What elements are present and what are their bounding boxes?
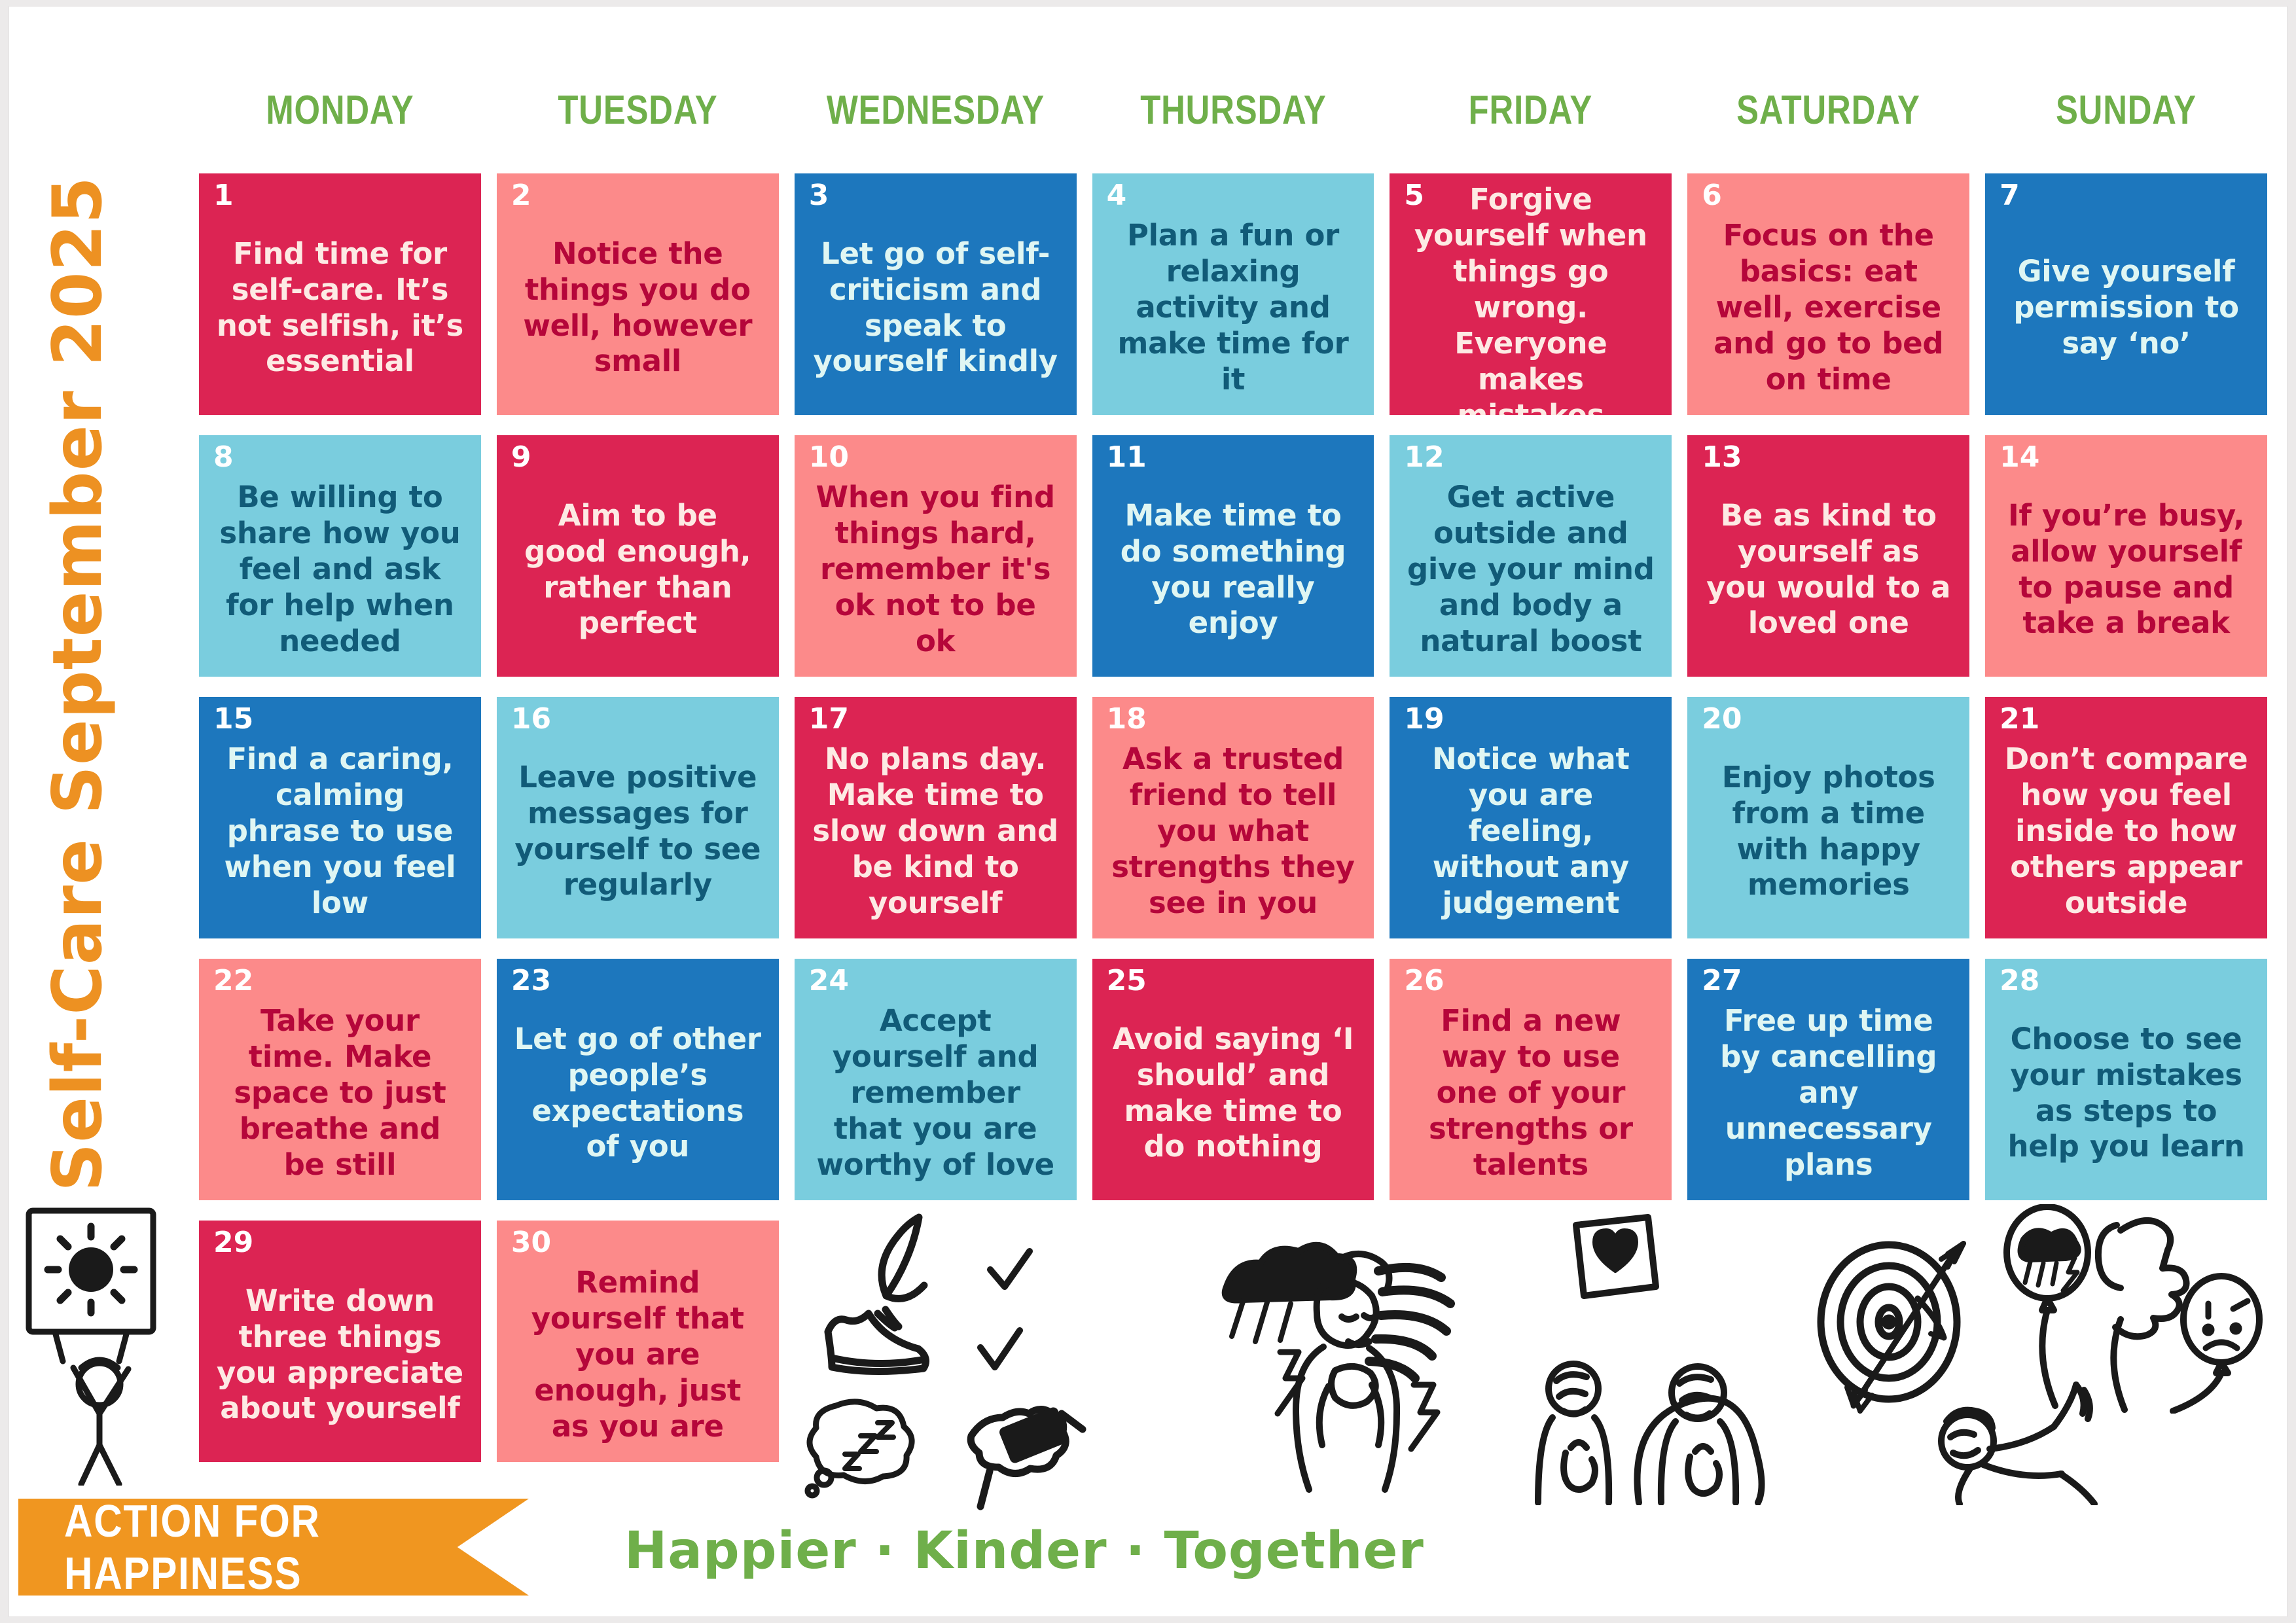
weekday-header-saturday: SATURDAY (1713, 79, 1944, 141)
day-number: 29 (213, 1227, 253, 1258)
calendar-cell-3[interactable]: 3Let go of self-criticism and speak to y… (795, 173, 1077, 415)
day-number: 28 (2000, 965, 2039, 997)
day-number: 2 (511, 180, 531, 211)
day-number: 10 (809, 442, 849, 473)
calendar-cell-29[interactable]: 29Write down three things you appreciate… (199, 1221, 481, 1462)
day-message: Accept yourself and remember that you ar… (812, 1003, 1060, 1183)
footer: ACTION FOR HAPPINESS Happier · Kinder · … (9, 1499, 2287, 1597)
weekday-header-thursday: THURSDAY (1117, 79, 1348, 141)
calendar-cell-20[interactable]: 20Enjoy photos from a time with happy me… (1687, 697, 1969, 938)
weekday-header-friday: FRIDAY (1415, 79, 1646, 141)
day-message: Free up time by cancelling any unnecessa… (1704, 1003, 1952, 1183)
day-number: 1 (213, 180, 234, 211)
day-number: 3 (809, 180, 829, 211)
day-message: Choose to see your mistakes as steps to … (2002, 1022, 2250, 1166)
day-number: 30 (511, 1227, 551, 1258)
calendar-cell-28[interactable]: 28Choose to see your mistakes as steps t… (1985, 959, 2267, 1200)
day-message: Remind yourself that you are enough, jus… (514, 1265, 762, 1444)
day-message: Take your time. Make space to just breat… (216, 1003, 464, 1183)
day-message: Find a caring, calming phrase to use whe… (216, 741, 464, 921)
day-number: 13 (1702, 442, 1742, 473)
day-number: 21 (2000, 704, 2039, 735)
calendar-cell-13[interactable]: 13Be as kind to yourself as you would to… (1687, 435, 1969, 677)
calendar-cell-23[interactable]: 23Let go of other people’s expectations … (497, 959, 779, 1200)
day-number: 26 (1404, 965, 1444, 997)
calendar-cell-30[interactable]: 30Remind yourself that you are enough, j… (497, 1221, 779, 1462)
weekday-header-tuesday: TUESDAY (522, 79, 753, 141)
calendar-cell-11[interactable]: 11Make time to do something you really e… (1092, 435, 1374, 677)
page-title: Self-Care September 2025 (39, 176, 117, 1192)
day-number: 18 (1107, 704, 1147, 735)
day-message: Find time for self-care. It’s not selfis… (216, 236, 464, 380)
calendar-cell-15[interactable]: 15Find a caring, calming phrase to use w… (199, 697, 481, 938)
day-number: 14 (2000, 442, 2039, 473)
day-message: Leave positive messages for yourself to … (514, 760, 762, 904)
day-message: Aim to be good enough, rather than perfe… (514, 498, 762, 642)
weekday-header-monday: MONDAY (224, 79, 456, 141)
weekday-header-row: MONDAY TUESDAY WEDNESDAY THURSDAY FRIDAY… (199, 79, 2267, 141)
weekday-header-wednesday: WEDNESDAY (819, 79, 1050, 141)
calendar-grid: 1Find time for self-care. It’s not selfi… (199, 173, 2267, 1476)
day-message: Don’t compare how you feel inside to how… (2002, 741, 2250, 921)
weekday-header-sunday: SUNDAY (2011, 79, 2242, 141)
day-number: 20 (1702, 704, 1742, 735)
day-number: 7 (2000, 180, 2020, 211)
day-message: Plan a fun or relaxing activity and make… (1109, 218, 1357, 397)
calendar-cell-5[interactable]: 5Forgive yourself when things go wrong. … (1390, 173, 1672, 415)
day-message: Get active outside and give your mind an… (1407, 480, 1655, 659)
calendar-cell-26[interactable]: 26Find a new way to use one of your stre… (1390, 959, 1672, 1200)
calendar-cell-2[interactable]: 2Notice the things you do well, however … (497, 173, 779, 415)
calendar-cell-8[interactable]: 8Be willing to share how you feel and as… (199, 435, 481, 677)
day-message: Forgive yourself when things go wrong. E… (1407, 182, 1655, 415)
day-number: 25 (1107, 965, 1147, 997)
calendar-cell-1[interactable]: 1Find time for self-care. It’s not selfi… (199, 173, 481, 415)
calendar-cell-14[interactable]: 14If you’re busy, allow yourself to paus… (1985, 435, 2267, 677)
day-number: 5 (1404, 180, 1424, 211)
calendar-cell-7[interactable]: 7Give yourself permission to say ‘no’ (1985, 173, 2267, 415)
day-message: Focus on the basics: eat well, exercise … (1704, 218, 1952, 397)
day-message: Notice the things you do well, however s… (514, 236, 762, 380)
day-message: Notice what you are feeling, without any… (1407, 741, 1655, 921)
day-message: Be as kind to yourself as you would to a… (1704, 498, 1952, 642)
calendar-cell-4[interactable]: 4Plan a fun or relaxing activity and mak… (1092, 173, 1374, 415)
calendar-cell-empty-3 (1390, 1221, 1672, 1462)
calendar-cell-empty-2 (1092, 1221, 1374, 1462)
day-message: Ask a trusted friend to tell you what st… (1109, 741, 1357, 921)
day-number: 9 (511, 442, 531, 473)
day-message: Let go of other people’s expectations of… (514, 1022, 762, 1166)
calendar-cell-24[interactable]: 24Accept yourself and remember that you … (795, 959, 1077, 1200)
brand-name: ACTION FOR HAPPINESS (64, 1495, 464, 1599)
day-number: 22 (213, 965, 253, 997)
day-message: If you’re busy, allow yourself to pause … (2002, 498, 2250, 642)
calendar-cell-18[interactable]: 18Ask a trusted friend to tell you what … (1092, 697, 1374, 938)
calendar-cell-21[interactable]: 21Don’t compare how you feel inside to h… (1985, 697, 2267, 938)
title-rail: Self-Care September 2025 (9, 118, 147, 1250)
day-message: Write down three things you appreciate a… (216, 1283, 464, 1427)
calendar-cell-16[interactable]: 16Leave positive messages for yourself t… (497, 697, 779, 938)
day-message: Enjoy photos from a time with happy memo… (1704, 760, 1952, 904)
day-message: Make time to do something you really enj… (1109, 498, 1357, 642)
calendar-cell-22[interactable]: 22Take your time. Make space to just bre… (199, 959, 481, 1200)
day-number: 16 (511, 704, 551, 735)
calendar-cell-empty-4 (1687, 1221, 1969, 1462)
day-number: 8 (213, 442, 234, 473)
calendar-cell-17[interactable]: 17No plans day. Make time to slow down a… (795, 697, 1077, 938)
day-message: Avoid saying ‘I should’ and make time to… (1109, 1022, 1357, 1166)
day-message: No plans day. Make time to slow down and… (812, 741, 1060, 921)
day-message: When you find things hard, remember it's… (812, 480, 1060, 659)
calendar-cell-19[interactable]: 19Notice what you are feeling, without a… (1390, 697, 1672, 938)
day-message: Let go of self-criticism and speak to yo… (812, 236, 1060, 380)
day-number: 27 (1702, 965, 1742, 997)
day-number: 23 (511, 965, 551, 997)
calendar-cell-9[interactable]: 9Aim to be good enough, rather than perf… (497, 435, 779, 677)
day-number: 17 (809, 704, 849, 735)
calendar-cell-27[interactable]: 27Free up time by cancelling any unneces… (1687, 959, 1969, 1200)
day-number: 12 (1404, 442, 1444, 473)
day-number: 11 (1107, 442, 1147, 473)
day-number: 15 (213, 704, 253, 735)
day-message: Give yourself permission to say ‘no’ (2002, 254, 2250, 362)
day-message: Find a new way to use one of your streng… (1407, 1003, 1655, 1183)
day-message: Be willing to share how you feel and ask… (216, 480, 464, 659)
day-number: 6 (1702, 180, 1722, 211)
brand-ribbon[interactable]: ACTION FOR HAPPINESS (18, 1499, 529, 1596)
calendar-cell-empty-1 (795, 1221, 1077, 1462)
day-number: 19 (1404, 704, 1444, 735)
calendar-cell-10[interactable]: 10When you find things hard, remember it… (795, 435, 1077, 677)
day-number: 24 (809, 965, 849, 997)
calendar-cell-empty-5 (1985, 1221, 2267, 1462)
calendar-cell-12[interactable]: 12Get active outside and give your mind … (1390, 435, 1672, 677)
calendar-cell-25[interactable]: 25Avoid saying ‘I should’ and make time … (1092, 959, 1374, 1200)
tagline: Happier · Kinder · Together (624, 1503, 1424, 1599)
calendar-page: Self-Care September 2025 MONDAY TUESDAY … (9, 7, 2287, 1616)
calendar-cell-6[interactable]: 6Focus on the basics: eat well, exercise… (1687, 173, 1969, 415)
day-number: 4 (1107, 180, 1127, 211)
